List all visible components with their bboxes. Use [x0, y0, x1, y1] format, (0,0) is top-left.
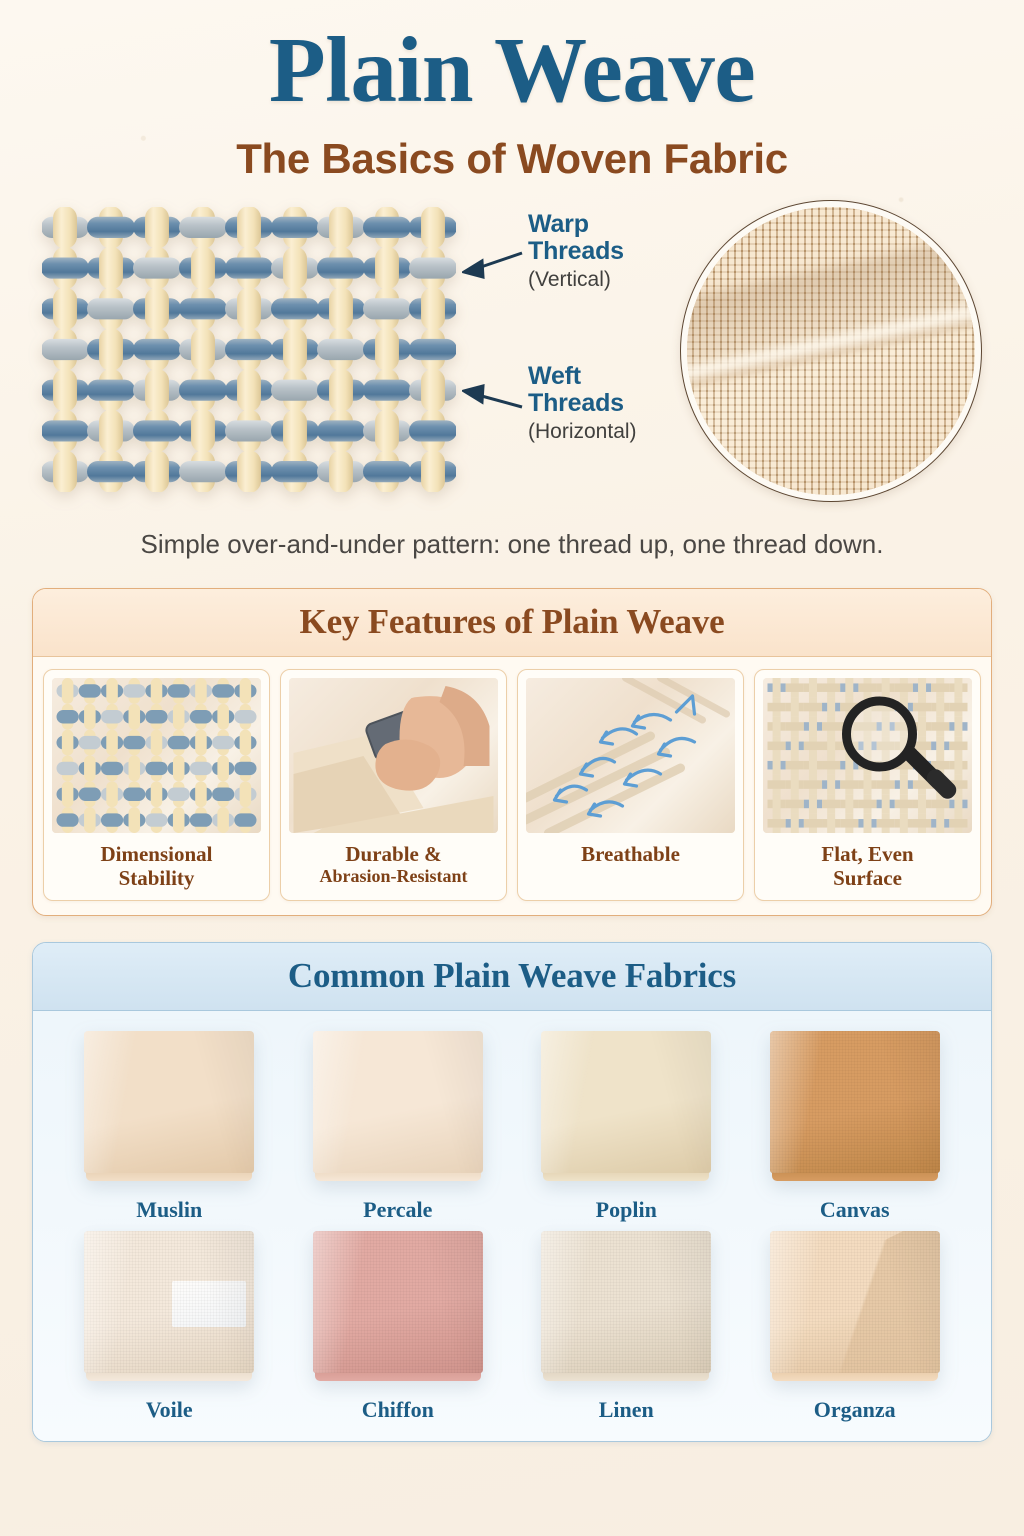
key-features-heading: Key Features of Plain Weave: [33, 602, 991, 642]
fabric-swatch: [764, 1027, 946, 1187]
fabric-crease: [541, 1231, 711, 1373]
fabric-swatch-cell: Canvas: [741, 1027, 970, 1223]
key-features-header: Key Features of Plain Weave: [33, 589, 991, 657]
warp-label-line2: Threads: [528, 238, 624, 265]
feature-card-image: [526, 678, 735, 833]
fabric-swatch: [307, 1027, 489, 1187]
key-features-panel: Key Features of Plain Weave Dimensional …: [32, 588, 992, 916]
feature-card-image: [763, 678, 972, 833]
fabric-name: Linen: [599, 1397, 654, 1423]
common-fabrics-header: Common Plain Weave Fabrics: [33, 943, 991, 1011]
feature-card-label: Durable & Abrasion-Resistant: [319, 842, 467, 887]
fabric-crease: [313, 1031, 483, 1173]
fabric-swatch-cell: Organza: [741, 1227, 970, 1423]
fabric-swatch-cell: Voile: [55, 1227, 284, 1423]
feature-card: Breathable: [517, 669, 744, 901]
page-title: Plain Weave: [0, 0, 1024, 117]
fabric-crease: [84, 1231, 254, 1373]
feature-card-label: Breathable: [581, 842, 680, 866]
feature-label-line2: Surface: [821, 866, 913, 890]
feature-card: Dimensional Stability: [43, 669, 270, 901]
weave-svg: [42, 207, 456, 492]
warp-label-line1: Warp: [528, 211, 624, 238]
warp-label-group: Warp Threads (Vertical): [528, 211, 624, 292]
weave-diagram-section: Warp Threads (Vertical) Weft Threads (Ho…: [0, 195, 1024, 525]
fabric-crease: [84, 1031, 254, 1173]
fabric-swatch: [535, 1027, 717, 1187]
airflow-icon: [526, 678, 735, 833]
fabric-swatch-cell: Linen: [512, 1227, 741, 1423]
weft-label-group: Weft Threads (Horizontal): [528, 363, 637, 444]
mini-weave-icon: [52, 678, 261, 833]
fabric-name: Voile: [146, 1397, 193, 1423]
common-fabrics-heading: Common Plain Weave Fabrics: [33, 956, 991, 996]
fabric-name: Poplin: [596, 1197, 657, 1223]
fabric-name: Percale: [363, 1197, 432, 1223]
feature-label-line2: Stability: [100, 866, 212, 890]
plain-weave-illustration: [42, 207, 456, 492]
fabric-swatch-cell: Muslin: [55, 1027, 284, 1223]
diagram-caption: Simple over-and-under pattern: one threa…: [0, 529, 1024, 560]
fabric-swatch: [764, 1227, 946, 1387]
hand-abrasion-icon: [289, 678, 498, 833]
fabric-swatch: [78, 1227, 260, 1387]
infographic-page: Plain Weave The Basics of Woven Fabric: [0, 0, 1024, 1536]
feature-label-line1: Durable &: [319, 842, 467, 866]
fabric-name: Muslin: [136, 1197, 202, 1223]
fabric-crease: [770, 1031, 940, 1173]
feature-card-grid: Dimensional Stability Durable & Abrasion…: [33, 657, 991, 915]
fabric-swatch-cell: Percale: [284, 1027, 513, 1223]
weft-label-line1: Weft: [528, 363, 637, 390]
warp-label-sub: (Vertical): [528, 268, 624, 292]
fabric-name: Canvas: [820, 1197, 890, 1223]
magnifier-icon: [763, 678, 972, 833]
feature-card: Flat, Even Surface: [754, 669, 981, 901]
feature-label-line1: Dimensional: [100, 842, 212, 866]
feature-card-image: [52, 678, 261, 833]
fabric-swatch: [535, 1227, 717, 1387]
fabric-swatch-grid: Muslin Percale Poplin Canvas: [33, 1011, 991, 1441]
feature-card-image: [289, 678, 498, 833]
fabric-crease: [770, 1231, 940, 1373]
fabric-name: Organza: [814, 1397, 896, 1423]
weft-label-sub: (Horizontal): [528, 420, 637, 444]
feature-label-line1: Breathable: [581, 842, 680, 866]
fabric-swatch-cell: Poplin: [512, 1027, 741, 1223]
fabric-crease: [541, 1031, 711, 1173]
fabric-swatch-cell: Chiffon: [284, 1227, 513, 1423]
feature-label-line1: Flat, Even: [821, 842, 913, 866]
fabric-swatch: [78, 1027, 260, 1187]
feature-card: Durable & Abrasion-Resistant: [280, 669, 507, 901]
fabric-name: Chiffon: [362, 1397, 434, 1423]
feature-card-label: Flat, Even Surface: [821, 842, 913, 890]
common-fabrics-panel: Common Plain Weave Fabrics Muslin Percal…: [32, 942, 992, 1442]
page-subtitle: The Basics of Woven Fabric: [0, 135, 1024, 183]
feature-card-label: Dimensional Stability: [100, 842, 212, 890]
fabric-crease: [313, 1231, 483, 1373]
weft-label-line2: Threads: [528, 390, 637, 417]
feature-label-line2: Abrasion-Resistant: [319, 866, 467, 887]
fabric-swatch: [307, 1227, 489, 1387]
burlap-photo: [681, 201, 981, 501]
